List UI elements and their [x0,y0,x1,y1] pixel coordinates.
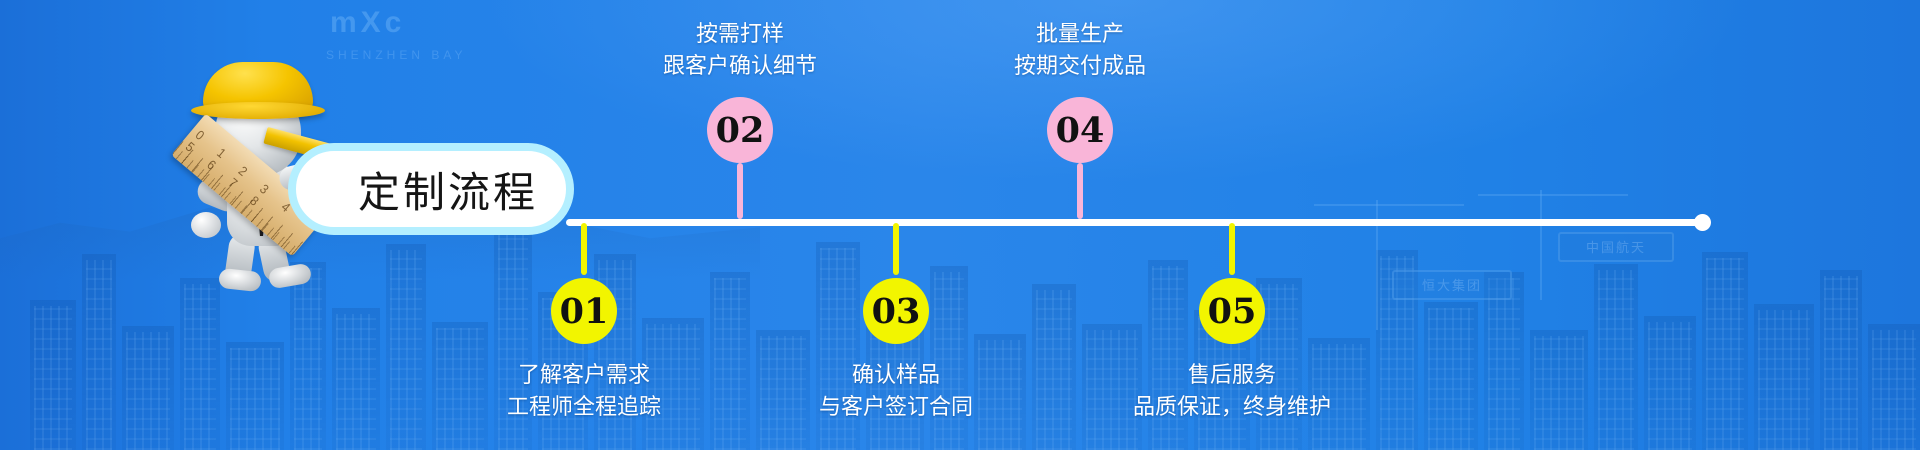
step-caption: 批量生产按期交付成品 [870,19,1290,83]
step-connector-stem [893,223,899,275]
hard-hat-brim [191,102,325,119]
mascot-left-hand [191,212,221,238]
building-sign: 恒大集团 [1392,270,1512,300]
watermark-logo-sub: SHENZHEN BAY [326,48,466,62]
mascot-left-shoe [218,268,262,292]
step-number-badge[interactable]: 02 [707,97,773,163]
building-sign: 中国航天 [1558,232,1674,262]
step-connector-stem [1077,163,1083,219]
step-number-badge[interactable]: 01 [551,278,617,344]
step-caption-line-2: 按期交付成品 [870,51,1290,83]
timeline-end-dot [1694,214,1711,231]
step-number-badge[interactable]: 05 [1199,278,1265,344]
timeline-track [566,219,1706,226]
page-title-pill: 定制流程 [288,143,574,235]
step-caption-line-1: 售后服务 [1022,360,1442,392]
step-number-badge[interactable]: 03 [863,278,929,344]
watermark-logo: mXc [330,8,405,38]
step-caption: 售后服务品质保证，终身维护 [1022,360,1442,424]
step-connector-stem [1229,223,1235,275]
step-connector-stem [737,163,743,219]
step-caption-line-2: 品质保证，终身维护 [1022,392,1442,424]
page-title: 定制流程 [358,159,538,220]
step-number-badge[interactable]: 04 [1047,97,1113,163]
custom-process-banner: mXc SHENZHEN BAY [0,0,1920,450]
step-caption-line-1: 批量生产 [870,19,1290,51]
crane-icon [1540,190,1542,300]
step-connector-stem [581,223,587,275]
